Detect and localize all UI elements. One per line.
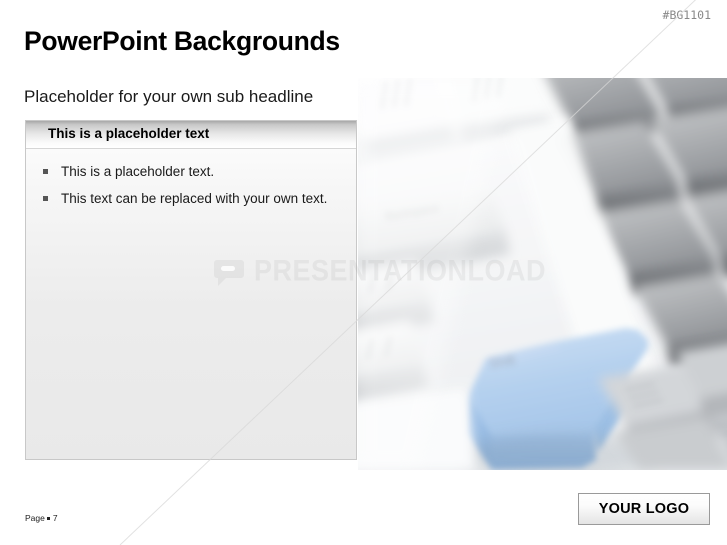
list-item: This text can be replaced with your own … <box>38 190 344 207</box>
logo-label: YOUR LOGO <box>599 501 689 517</box>
page-subtitle: Placeholder for your own sub headline <box>24 87 313 107</box>
bullet-square-icon <box>43 169 48 174</box>
page-number-label: Page7 <box>25 513 58 523</box>
slide-id-code: #BG1101 <box>663 8 711 22</box>
list-item-label: This is a placeholder text. <box>61 164 214 179</box>
keyboard-image: Backspace <box>358 78 727 470</box>
slide: Backspace <box>0 0 727 545</box>
logo-placeholder[interactable]: YOUR LOGO <box>578 493 710 525</box>
content-box-title: This is a placeholder text <box>48 126 209 141</box>
bullet-list: This is a placeholder text. This text ca… <box>26 149 356 207</box>
list-item: This is a placeholder text. <box>38 163 344 180</box>
page-number: 7 <box>53 513 58 523</box>
page-separator-icon <box>47 517 50 520</box>
page-title: PowerPoint Backgrounds <box>24 26 340 57</box>
content-box-header: This is a placeholder text <box>26 121 356 149</box>
content-box: This is a placeholder text This is a pla… <box>25 120 357 460</box>
page-prefix: Page <box>25 513 45 523</box>
list-item-label: This text can be replaced with your own … <box>61 191 327 206</box>
bullet-square-icon <box>43 196 48 201</box>
